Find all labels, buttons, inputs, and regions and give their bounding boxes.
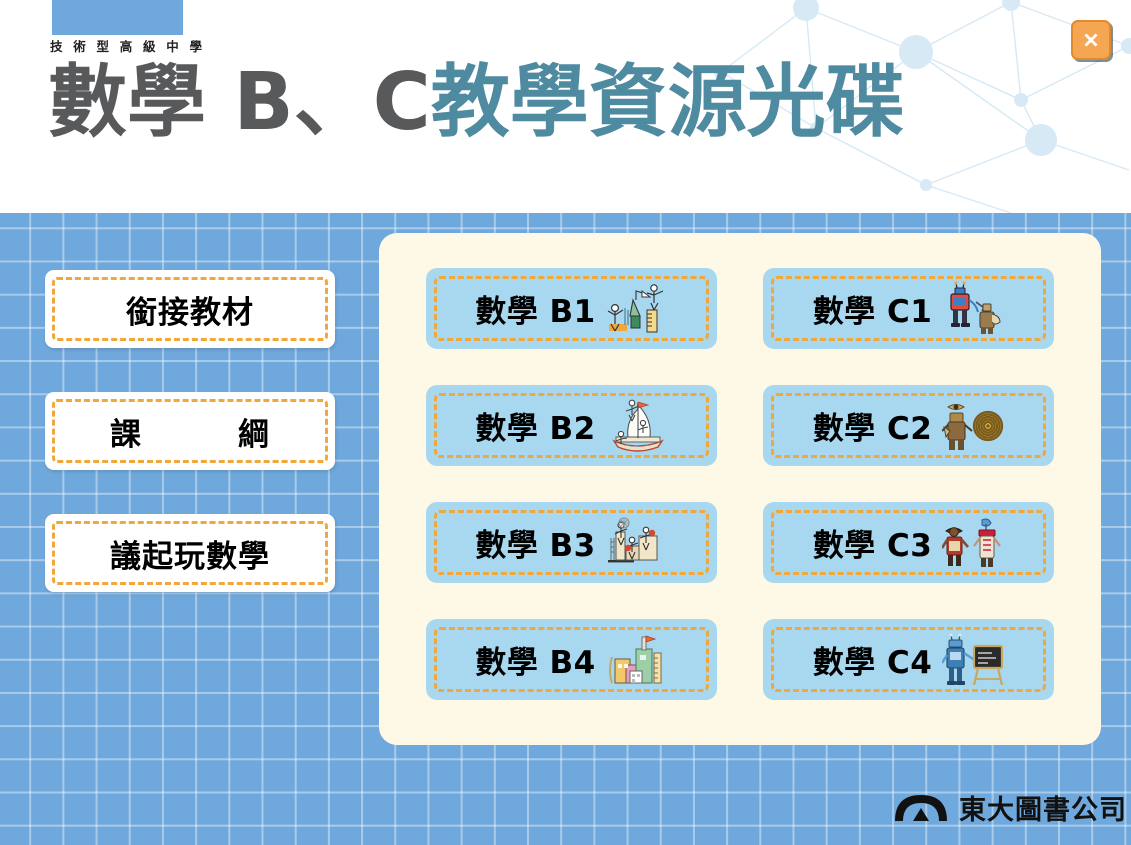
sidebar-item-label: 課 綱 (110, 409, 270, 454)
course-button-content: 數學 C3 (813, 514, 1005, 572)
course-button-math-b4[interactable]: 數學 B4 (426, 619, 717, 700)
mountain-arch-icon (893, 791, 949, 825)
page-title-teal-part: 教學資源光碟 (431, 56, 905, 148)
publisher-name: 東大圖書公司 (959, 788, 1127, 827)
course-button-math-b1[interactable]: 數學 B1 (426, 268, 717, 349)
sailing-ship-icon (606, 397, 668, 455)
publisher-logo: 東大圖書公司 (893, 788, 1127, 827)
course-button-math-c4[interactable]: 數學 C4 (763, 619, 1054, 700)
course-label: 數學 B4 (475, 637, 596, 682)
page-title-dark-part: 數學 B、C (48, 56, 431, 148)
sidebar-item-curriculum-guidelines[interactable]: 課 綱 (45, 392, 335, 470)
two-costumed-figures-icon (942, 514, 1004, 572)
course-button-math-b3[interactable]: 數學 B3 (426, 502, 717, 583)
course-label: 數學 B1 (475, 286, 596, 331)
header-bar: 技 術 型 高 級 中 學 數學 B、C教學資源光碟 (0, 0, 1131, 213)
course-label: 數學 C3 (813, 520, 933, 565)
course-button-content: 數學 B1 (475, 280, 668, 338)
course-button-content: 數學 B3 (475, 514, 668, 572)
course-button-content: 數學 C1 (813, 280, 1005, 338)
course-button-content: 數學 C2 (813, 397, 1005, 455)
course-label: 數學 C2 (813, 403, 933, 448)
course-button-content: 數學 B4 (475, 631, 668, 689)
course-button-math-c3[interactable]: 數學 C3 (763, 502, 1054, 583)
course-button-math-b2[interactable]: 數學 B2 (426, 385, 717, 466)
sidebar-menu: 銜接教材 課 綱 議起玩數學 (45, 270, 335, 636)
sidebar-item-bridging-materials[interactable]: 銜接教材 (45, 270, 335, 348)
course-grid: 數學 B1 (426, 268, 1054, 700)
close-icon (1079, 28, 1103, 52)
course-label: 數學 B3 (475, 520, 596, 565)
course-button-content: 數學 C4 (813, 631, 1005, 689)
colorful-buildings-icon (606, 631, 668, 689)
warrior-and-target-icon (942, 397, 1004, 455)
robot-and-knight-icon (942, 280, 1004, 338)
school-logo-block (52, 0, 183, 35)
construction-surveyors-icon (606, 280, 668, 338)
builders-on-blocks-icon (606, 514, 668, 572)
course-button-content: 數學 B2 (475, 397, 668, 455)
course-label: 數學 B2 (475, 403, 596, 448)
course-button-math-c2[interactable]: 數學 C2 (763, 385, 1054, 466)
course-panel: 數學 B1 (379, 233, 1101, 745)
close-button[interactable] (1071, 20, 1111, 60)
course-label: 數學 C1 (813, 286, 933, 331)
sidebar-item-label: 銜接教材 (126, 287, 254, 332)
page-title: 數學 B、C教學資源光碟 (48, 52, 905, 152)
application-window: 技 術 型 高 級 中 學 數學 B、C教學資源光碟 銜接教材 課 綱 議起玩數… (0, 0, 1131, 845)
sidebar-item-play-math-together[interactable]: 議起玩數學 (45, 514, 335, 592)
robot-at-blackboard-icon (942, 631, 1004, 689)
sidebar-item-label: 議起玩數學 (110, 531, 270, 576)
course-label: 數學 C4 (813, 637, 933, 682)
course-button-math-c1[interactable]: 數學 C1 (763, 268, 1054, 349)
